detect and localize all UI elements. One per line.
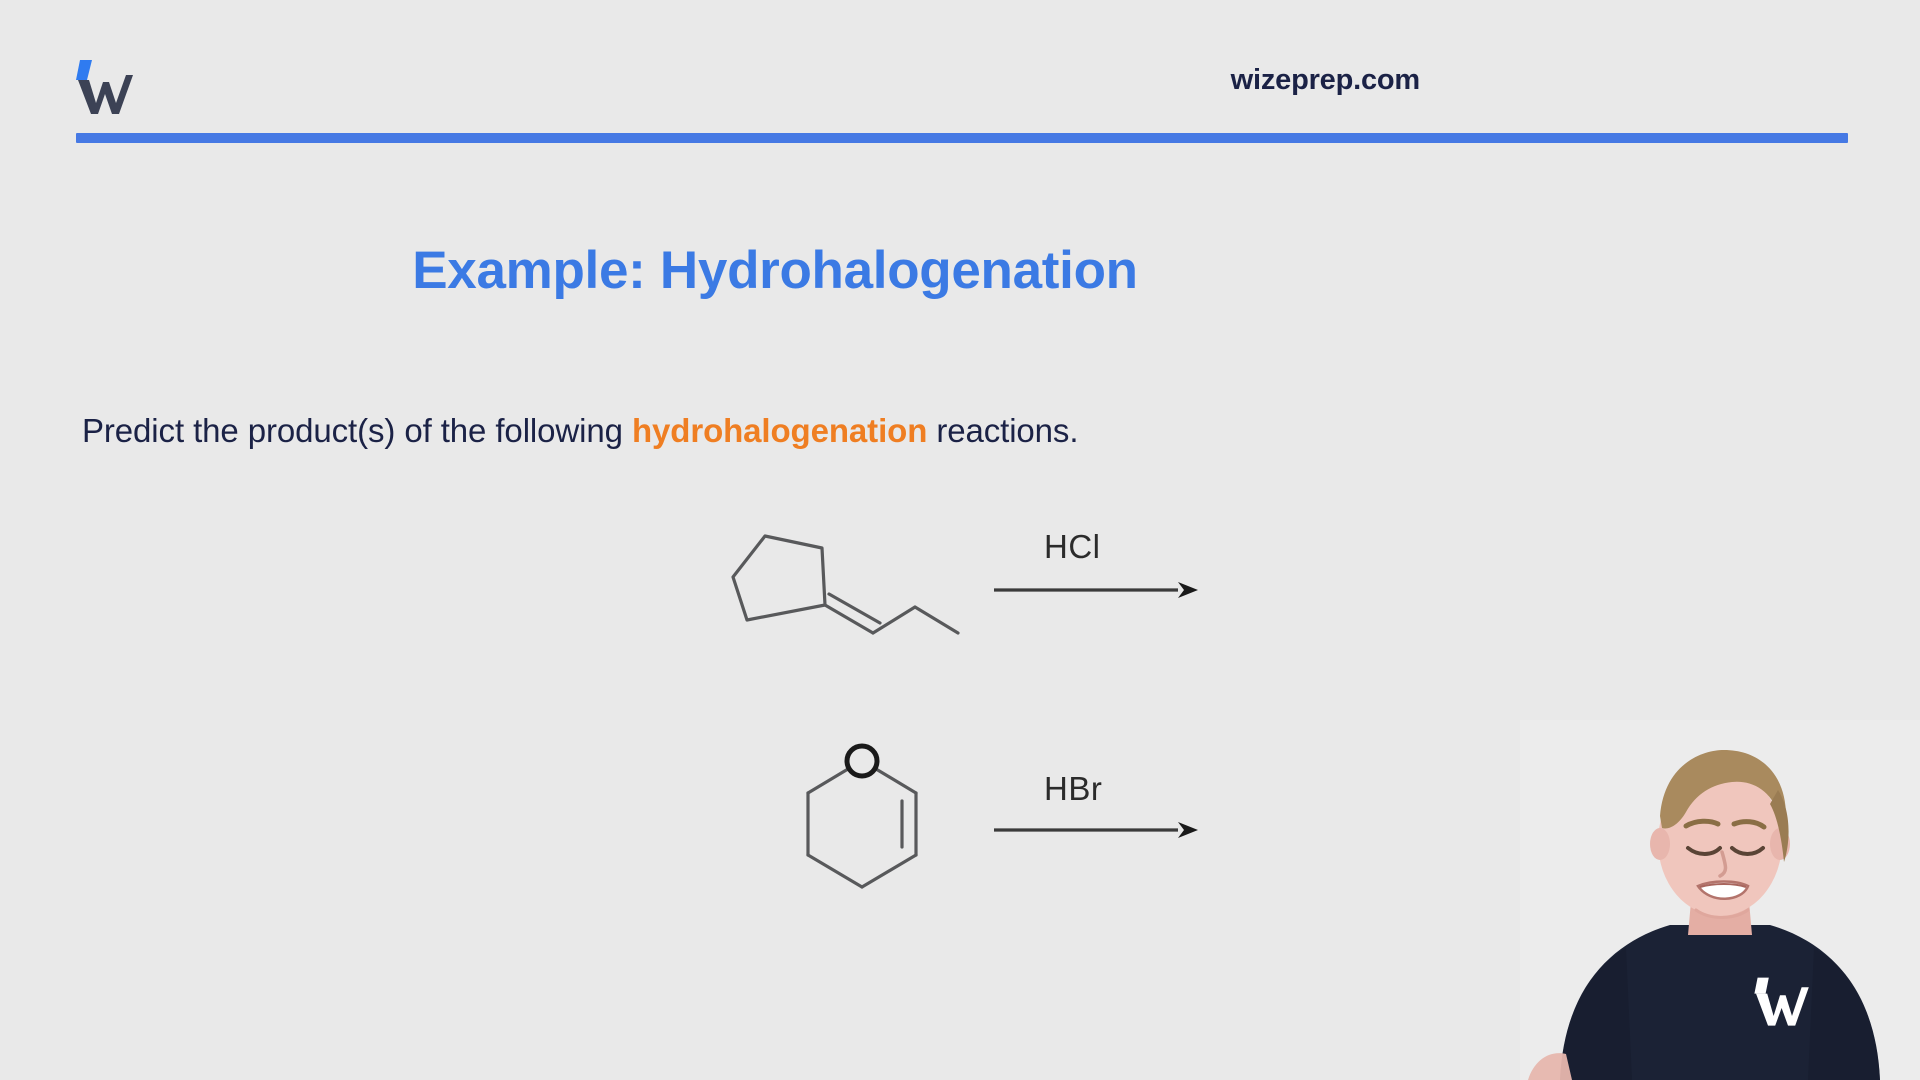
slide-header: wizeprep.com [0,0,1920,160]
reaction-arrow-2 [992,810,1202,850]
structure-dihydropyran [790,735,950,905]
prompt-trail: reactions. [927,412,1078,449]
reagent-label-hbr: HBr [1044,770,1102,808]
site-url-label: wizeprep.com [1231,64,1420,97]
header-divider [76,133,1848,143]
prompt-text: Predict the product(s) of the following … [82,412,1078,450]
reaction-arrow-1 [992,570,1202,610]
page-title-text: Example: Hydrohalogenation [412,241,1137,300]
prompt-highlight: hydrohalogenation [632,412,927,449]
prompt-lead: Predict the product(s) of the following [82,412,632,449]
page-title: Example: Hydrohalogenation [0,240,1920,301]
presenter-video[interactable] [1520,720,1920,1080]
oxygen-atom-label [847,746,877,776]
slide-canvas: wizeprep.com Example: Hydrohalogenation … [0,0,1920,1080]
structure-propylidenecyclopentane [710,515,1010,655]
wizeprep-logo-icon[interactable] [72,58,134,116]
reagent-label-hcl: HCl [1044,528,1101,566]
